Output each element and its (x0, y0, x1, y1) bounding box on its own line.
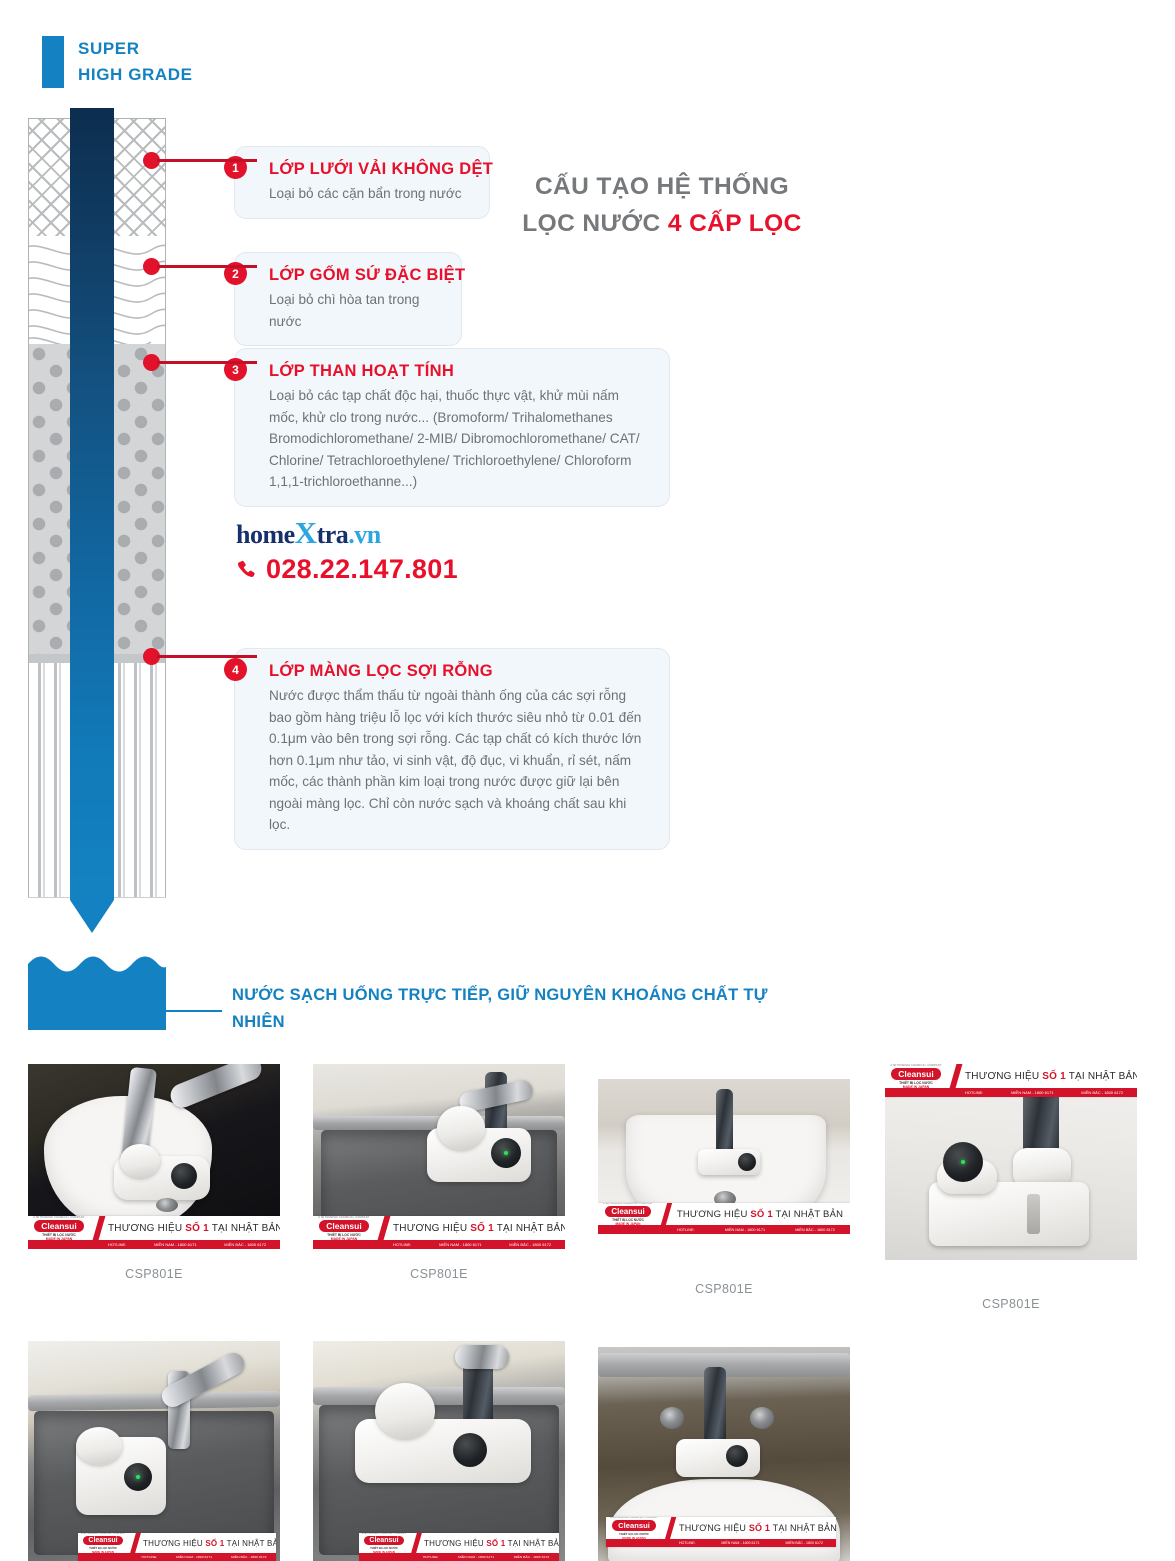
hotline-label: HOTLINE: (108, 1242, 126, 1247)
cleansui-parent-brand: A MITSUBISHI CHEMICAL COMPANY (603, 1203, 653, 1205)
faucet-head (455, 1345, 509, 1369)
hotline-south: MIỀN NAM - 1800 6171 (721, 1541, 759, 1545)
ad-slogan-post: TẠI NHẬT BẢN (770, 1523, 836, 1533)
gallery-item-7[interactable]: A MITSUBISHI CHEMICAL COMPANY Cleansui T… (598, 1347, 850, 1561)
callout-title-4: LỚP MÀNG LỌC SỢI RỖNG (269, 660, 651, 682)
cleansui-pill: Cleansui (605, 1206, 650, 1217)
gallery-caption-3: CSP801E (598, 1282, 850, 1296)
cleansui-parent-brand: A MITSUBISHI CHEMICAL COMPANY (33, 1216, 84, 1218)
counter-edge (28, 1391, 280, 1411)
status-led (961, 1160, 965, 1164)
hotline-south: MIỀN NAM - 1800 6171 (439, 1242, 481, 1247)
ad-slogan: THƯƠNG HIỆU SỐ 1 TẠI NHẬT BẢN (143, 1539, 276, 1548)
device-dial (726, 1445, 748, 1467)
cleansui-pill: Cleansui (319, 1220, 368, 1232)
ad-banner-main: A MITSUBISHI CHEMICAL COMPANY Cleansui T… (359, 1533, 559, 1553)
ad-slogan-pre: THƯƠNG HIỆU (424, 1539, 486, 1548)
valve-right (750, 1407, 774, 1429)
cleansui-ad-banner: A MITSUBISHI CHEMICAL COMPANY Cleansui T… (885, 1064, 1137, 1097)
phone-number-text: 028.22.147.801 (266, 554, 458, 585)
gallery-photo-5[interactable]: A MITSUBISHI CHEMICAL COMPANY Cleansui T… (28, 1341, 280, 1561)
device-collar (375, 1383, 435, 1439)
callout-title-2: LỚP GỐM SỨ ĐẶC BIỆT (269, 264, 443, 286)
gallery-photo-6[interactable]: A MITSUBISHI CHEMICAL COMPANY Cleansui T… (313, 1341, 565, 1561)
callout-badge-4: 4 (224, 658, 247, 681)
device-dial (453, 1433, 487, 1467)
callout-title-1: LỚP LƯỚI VẢI KHÔNG DỆT (269, 158, 471, 180)
cleansui-logo: A MITSUBISHI CHEMICAL COMPANY Cleansui T… (885, 1064, 947, 1089)
callout-title-3: LỚP THAN HOẠT TÍNH (269, 360, 651, 382)
hotline-south: MIỀN NAM - 1800 6171 (176, 1555, 212, 1559)
cleansui-ad-banner: A MITSUBISHI CHEMICAL COMPANY Cleansui T… (78, 1533, 276, 1561)
status-led (504, 1151, 508, 1155)
ad-slogan-post: TẠI NHẬT BẢN (1066, 1071, 1137, 1082)
ad-hotline-bar: HOTLINE: MIỀN NAM - 1800 6171 MIỀN BẮC -… (598, 1225, 850, 1234)
device-collar (120, 1144, 160, 1178)
callout-body-2: Loại bỏ chì hòa tan trong nước (269, 289, 443, 332)
device-dial (491, 1138, 521, 1168)
ad-hotline-bar: HOTLINE: MIỀN NAM - 1800 6171 MIỀN BẮC -… (313, 1240, 565, 1249)
drain (156, 1198, 178, 1212)
homextra-logo[interactable]: homeXtra.vn (236, 518, 458, 550)
flow-arrow-head (70, 900, 114, 933)
device-dial (738, 1153, 756, 1171)
result-connector-line (160, 1010, 222, 1012)
ad-slogan-highlight: SỐ 1 (486, 1539, 505, 1548)
connector-line-4 (157, 655, 257, 658)
ad-banner-main: A MITSUBISHI CHEMICAL COMPANY Cleansui T… (78, 1533, 276, 1553)
gallery-photo-3[interactable]: A MITSUBISHI CHEMICAL COMPANY Cleansui T… (598, 1079, 850, 1234)
ad-hotline-bar: HOTLINE: MIỀN NAM - 1800 6171 MIỀN BẮC -… (606, 1539, 836, 1547)
hotline-south: MIỀN NAM - 1800 6171 (458, 1555, 494, 1559)
ad-banner-main: A MITSUBISHI CHEMICAL COMPANY Cleansui T… (313, 1216, 565, 1240)
gallery-item-2[interactable]: A MITSUBISHI CHEMICAL COMPANY Cleansui T… (313, 1064, 565, 1281)
cleansui-pill: Cleansui (83, 1536, 122, 1545)
hotline-north: MIỀN BẮC - 1800 6172 (795, 1228, 835, 1232)
page-title: CẤU TẠO HỆ THỐNG LỌC NƯỚC 4 CẤP LỌC (497, 168, 827, 242)
hotline-south: MIỀN NAM - 1800 6171 (725, 1228, 765, 1232)
ad-slogan-post: TẠI NHẬT BẢN (494, 1223, 565, 1234)
gallery-caption-1: CSP801E (28, 1267, 280, 1281)
ad-hotline-bar: HOTLINE: MIỀN NAM - 1800 6171 MIỀN BẮC -… (359, 1553, 559, 1561)
device-dial (171, 1163, 197, 1189)
cleansui-logo: A MITSUBISHI CHEMICAL COMPANY Cleansui T… (28, 1216, 90, 1241)
ad-slogan: THƯƠNG HIỆU SỐ 1 TẠI NHẬT BẢN (108, 1223, 280, 1234)
ad-hotline-bar: HOTLINE: MIỀN NAM - 1800 6171 MIỀN BẮC -… (885, 1088, 1137, 1097)
cleansui-pill: Cleansui (34, 1220, 83, 1232)
phone-number-block[interactable]: 028.22.147.801 (236, 554, 458, 585)
gallery-photo-1[interactable]: A MITSUBISHI CHEMICAL COMPANY Cleansui T… (28, 1064, 280, 1249)
ad-slogan: THƯƠNG HIỆU SỐ 1 TẠI NHẬT BẢN (393, 1223, 565, 1234)
hotline-label: HOTLINE: (141, 1555, 157, 1559)
gallery-item-3[interactable]: A MITSUBISHI CHEMICAL COMPANY Cleansui T… (598, 1079, 850, 1296)
phone-icon (236, 559, 258, 581)
status-led (136, 1475, 140, 1479)
callout-card-3[interactable]: 3 LỚP THAN HOẠT TÍNH Loại bỏ các tạp chấ… (234, 348, 670, 507)
ad-slash-divider (949, 1064, 964, 1091)
page-title-line-2: LỌC NƯỚC 4 CẤP LỌC (497, 205, 827, 242)
device-collar (437, 1106, 485, 1150)
ad-slogan-post: TẠI NHẬT BẢN (224, 1539, 276, 1548)
ad-slogan: THƯƠNG HIỆU SỐ 1 TẠI NHẬT BẢN (424, 1539, 559, 1548)
cleansui-parent-brand: A MITSUBISHI CHEMICAL COMPANY (610, 1517, 658, 1519)
infographic-page: SUPER HIGH GRADE (0, 0, 1175, 1561)
gallery-item-4[interactable]: A MITSUBISHI CHEMICAL COMPANY Cleansui T… (885, 1064, 1137, 1311)
clean-water-pool-icon (28, 952, 166, 1030)
cleansui-logo: A MITSUBISHI CHEMICAL COMPANY Cleansui T… (78, 1533, 128, 1554)
callout-body-3: Loại bỏ các tạp chất độc hại, thuốc thực… (269, 385, 651, 493)
device-dial (124, 1463, 152, 1491)
ad-slogan-highlight: SỐ 1 (749, 1523, 770, 1533)
callout-card-2[interactable]: 2 LỚP GỐM SỨ ĐẶC BIỆT Loại bỏ chì hòa ta… (234, 252, 462, 346)
ad-slogan-highlight: SỐ 1 (205, 1539, 224, 1548)
cleansui-pill: Cleansui (364, 1536, 403, 1545)
faucet-arm (167, 1064, 265, 1111)
brand-contact-block: homeXtra.vn 028.22.147.801 (236, 518, 458, 585)
ad-banner-main: A MITSUBISHI CHEMICAL COMPANY Cleansui T… (606, 1517, 836, 1539)
ad-slogan: THƯƠNG HIỆU SỐ 1 TẠI NHẬT BẢN (679, 1523, 836, 1533)
header-accent-bar (42, 36, 64, 88)
hotline-south: MIỀN NAM - 1800 6171 (154, 1242, 196, 1247)
flow-shaft (70, 108, 114, 900)
cleansui-logo: A MITSUBISHI CHEMICAL COMPANY Cleansui T… (359, 1533, 409, 1554)
header-line-1: SUPER (78, 36, 193, 62)
logo-part-tra: tra (317, 520, 349, 549)
ad-slogan-highlight: SỐ 1 (185, 1223, 209, 1234)
cleansui-ad-banner: A MITSUBISHI CHEMICAL COMPANY Cleansui T… (598, 1203, 850, 1234)
ad-slogan-post: TẠI NHẬT BẢN (209, 1223, 280, 1234)
ad-slogan-highlight: SỐ 1 (750, 1209, 772, 1220)
cleansui-logo: A MITSUBISHI CHEMICAL COMPANY Cleansui T… (598, 1203, 658, 1226)
cleansui-parent-brand: A MITSUBISHI CHEMICAL COMPANY (890, 1064, 941, 1066)
logo-part-x: X (295, 515, 317, 550)
hotline-label: HOTLINE: (393, 1242, 411, 1247)
device-slot (1027, 1194, 1040, 1234)
ad-hotline-bar: HOTLINE: MIỀN NAM - 1800 6171 MIỀN BẮC -… (28, 1240, 280, 1249)
ad-slogan-highlight: SỐ 1 (470, 1223, 494, 1234)
cleansui-logo: A MITSUBISHI CHEMICAL COMPANY Cleansui T… (313, 1216, 375, 1241)
valve-left (660, 1407, 684, 1429)
water-flow-arrow-icon (70, 108, 114, 933)
gallery-photo-4[interactable]: A MITSUBISHI CHEMICAL COMPANY Cleansui T… (885, 1064, 1137, 1260)
ad-slogan-post: TẠI NHẬT BẢN (773, 1209, 843, 1220)
callout-card-4[interactable]: 4 LỚP MÀNG LỌC SỢI RỖNG Nước được thẩm t… (234, 648, 670, 850)
ad-banner-main: A MITSUBISHI CHEMICAL COMPANY Cleansui T… (28, 1216, 280, 1240)
ad-slogan-post: TẠI NHẬT BẢN (505, 1539, 559, 1548)
gallery-caption-2: CSP801E (313, 1267, 565, 1281)
hotline-label: HOTLINE: (965, 1090, 983, 1095)
header-line-2: HIGH GRADE (78, 62, 193, 88)
ad-slogan-pre: THƯƠNG HIỆU (143, 1539, 205, 1548)
callout-body-4: Nước được thẩm thấu từ ngoài thành ống c… (269, 685, 651, 836)
cleansui-pill: Cleansui (891, 1068, 940, 1080)
ad-slogan-pre: THƯƠNG HIỆU (108, 1223, 185, 1234)
page-title-accent: 4 CẤP LỌC (668, 210, 802, 237)
cleansui-parent-brand: A MITSUBISHI CHEMICAL COMPANY (81, 1533, 125, 1534)
super-high-grade-badge: SUPER HIGH GRADE (42, 36, 193, 88)
gallery-item-5[interactable]: A MITSUBISHI CHEMICAL COMPANY Cleansui T… (28, 1341, 280, 1561)
ad-banner-main: A MITSUBISHI CHEMICAL COMPANY Cleansui T… (598, 1203, 850, 1225)
hotline-south: MIỀN NAM - 1800 6171 (1011, 1090, 1053, 1095)
hotline-north: MIỀN BẮC - 1800 6172 (1081, 1090, 1123, 1095)
gallery-caption-4: CSP801E (885, 1297, 1137, 1311)
scene-steel-sink-cream (313, 1341, 565, 1561)
scene-kitchen-sink-beige (28, 1341, 280, 1561)
callout-body-1: Loại bỏ các cặn bẩn trong nước (269, 183, 471, 205)
ad-slash-divider (92, 1216, 107, 1243)
hotline-north: MIỀN BẮC - 1800 6172 (509, 1242, 551, 1247)
faucet-neck (704, 1367, 726, 1445)
hotline-north: MIỀN BẮC - 1800 6172 (224, 1242, 266, 1247)
connector-line-1 (157, 159, 257, 162)
device-collar (76, 1427, 122, 1465)
gallery-item-6[interactable]: A MITSUBISHI CHEMICAL COMPANY Cleansui T… (313, 1341, 565, 1561)
cleansui-parent-brand: A MITSUBISHI CHEMICAL COMPANY (362, 1533, 406, 1534)
device-dial (943, 1142, 983, 1182)
cleansui-logo: A MITSUBISHI CHEMICAL COMPANY Cleansui T… (606, 1517, 662, 1540)
gallery-photo-7[interactable]: A MITSUBISHI CHEMICAL COMPANY Cleansui T… (598, 1347, 850, 1561)
ad-slogan-pre: THƯƠNG HIỆU (679, 1523, 749, 1533)
cleansui-parent-brand: A MITSUBISHI CHEMICAL COMPANY (318, 1216, 369, 1218)
gallery-photo-2[interactable]: A MITSUBISHI CHEMICAL COMPANY Cleansui T… (313, 1064, 565, 1249)
callout-card-1[interactable]: 1 LỚP LƯỚI VẢI KHÔNG DỆT Loại bỏ các cặn… (234, 146, 490, 219)
page-title-plain: LỌC NƯỚC (522, 210, 668, 237)
result-statement: NƯỚC SẠCH UỐNG TRỰC TIẾP, GIỮ NGUYÊN KHO… (232, 982, 822, 1036)
ad-hotline-bar: HOTLINE: MIỀN NAM - 1800 6171 MIỀN BẮC -… (78, 1553, 276, 1561)
logo-part-home: home (236, 520, 295, 549)
counter-edge (313, 1387, 565, 1405)
page-title-line-1: CẤU TẠO HỆ THỐNG (497, 168, 827, 205)
hotline-north: MIỀN BẮC - 1800 6172 (785, 1541, 823, 1545)
hotline-north: MIỀN BẮC - 1800 6172 (231, 1555, 266, 1559)
gallery-item-1[interactable]: A MITSUBISHI CHEMICAL COMPANY Cleansui T… (28, 1064, 280, 1281)
hotline-label: HOTLINE: (423, 1555, 439, 1559)
connector-line-3 (157, 361, 257, 364)
ad-slash-divider (664, 1517, 677, 1542)
ad-slogan-highlight: SỐ 1 (1042, 1071, 1066, 1082)
connector-line-2 (157, 265, 257, 268)
ad-banner-main: A MITSUBISHI CHEMICAL COMPANY Cleansui T… (885, 1064, 1137, 1088)
cleansui-ad-banner: A MITSUBISHI CHEMICAL COMPANY Cleansui T… (313, 1216, 565, 1249)
ad-slash-divider (377, 1216, 392, 1243)
ad-slogan-pre: THƯƠNG HIỆU (393, 1223, 470, 1234)
ad-slogan: THƯƠNG HIỆU SỐ 1 TẠI NHẬT BẢN (675, 1209, 850, 1220)
ad-slogan-pre: THƯƠNG HIỆU (677, 1209, 751, 1220)
hotline-north: MIỀN BẮC - 1800 6172 (514, 1555, 549, 1559)
ad-slogan-pre: THƯƠNG HIỆU (965, 1071, 1042, 1082)
cleansui-ad-banner: A MITSUBISHI CHEMICAL COMPANY Cleansui T… (28, 1216, 280, 1249)
cleansui-pill: Cleansui (612, 1520, 656, 1531)
ad-slogan: THƯƠNG HIỆU SỐ 1 TẠI NHẬT BẢN (965, 1071, 1137, 1082)
hotline-label: HOTLINE: (677, 1228, 695, 1232)
cleansui-ad-banner: A MITSUBISHI CHEMICAL COMPANY Cleansui T… (359, 1533, 559, 1561)
hotline-label: HOTLINE: (679, 1541, 696, 1545)
header-text-wrap: SUPER HIGH GRADE (64, 36, 193, 88)
cleansui-ad-banner: A MITSUBISHI CHEMICAL COMPANY Cleansui T… (606, 1517, 836, 1547)
logo-part-vn: .vn (348, 520, 380, 549)
